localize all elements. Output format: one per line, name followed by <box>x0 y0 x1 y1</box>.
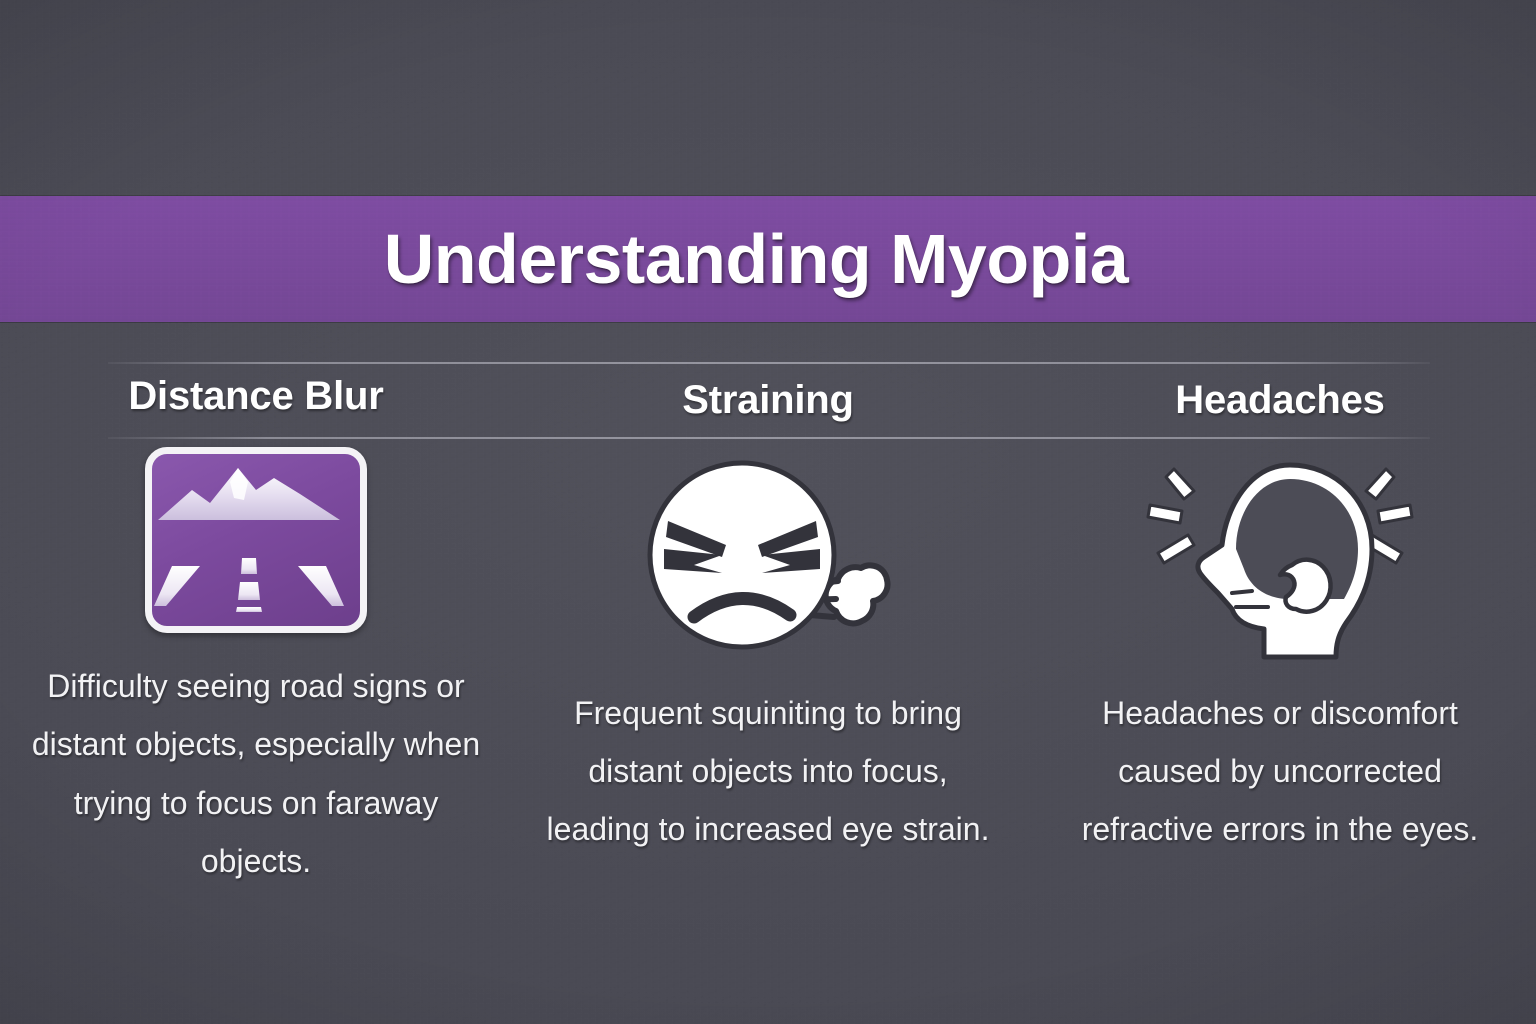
symptom-body-distance-blur: Difficulty seeing road signs or distant … <box>30 657 482 890</box>
road-horizon-icon <box>145 447 367 633</box>
symptom-body-straining: Frequent squiniting to bring distant obj… <box>542 684 994 859</box>
title-banner: Understanding Myopia <box>0 196 1536 322</box>
symptom-heading-headaches: Headaches <box>1175 362 1384 438</box>
head-pain-icon <box>1140 457 1420 657</box>
symptom-card-distance-blur: Distance Blur <box>0 362 512 922</box>
symptom-icon-straining <box>642 452 894 662</box>
symptom-icon-distance-blur <box>145 445 367 635</box>
symptom-heading-straining: Straining <box>682 362 854 438</box>
symptom-heading-distance-blur: Distance Blur <box>128 362 383 431</box>
symptom-card-headaches: Headaches <box>1024 362 1536 922</box>
squinting-face-icon <box>642 457 894 657</box>
infographic-canvas: Understanding Myopia Distance Blur <box>0 0 1536 1024</box>
page-title: Understanding Myopia <box>384 224 1128 294</box>
symptom-icon-headaches <box>1140 452 1420 662</box>
symptom-card-straining: Straining <box>512 362 1024 922</box>
symptom-body-headaches: Headaches or discomfort caused by uncorr… <box>1080 684 1480 859</box>
symptom-columns: Distance Blur <box>0 362 1536 922</box>
